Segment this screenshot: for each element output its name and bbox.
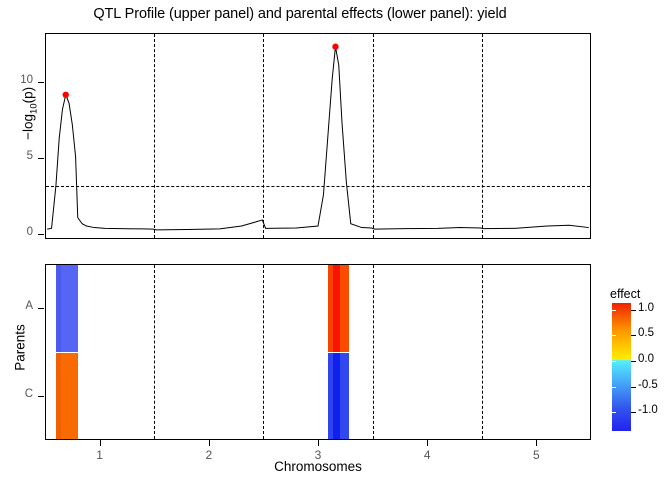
y-tick-label-upper-0: 0 (3, 226, 33, 238)
legend-tick-3 (631, 387, 636, 388)
page-title: QTL Profile (upper panel) and parental e… (0, 6, 600, 22)
upper-panel-qtl-profile (45, 33, 591, 239)
chromosome-separator-1 (154, 34, 155, 238)
peak-marker-chr1 (63, 92, 69, 98)
legend-tick-inner-4 (612, 412, 616, 413)
legend-tick-inner-2 (612, 361, 616, 362)
legend-title: effect (610, 287, 640, 301)
chromosome-separator-lower-4 (482, 265, 483, 439)
chromosome-separator-lower-2 (263, 265, 264, 439)
legend-tick-0 (631, 310, 636, 311)
legend-tick-2 (631, 361, 636, 362)
x-tick-5 (536, 440, 537, 446)
ylabel-prefix: −log (21, 114, 36, 140)
ylabel-suffix: (p) (21, 87, 36, 104)
legend-tick-inner-1 (612, 335, 616, 336)
peak-marker-chr3 (332, 44, 338, 50)
effect-bar-chr3-C-5 (340, 353, 349, 439)
upper-panel-plot-area (46, 34, 590, 238)
effect-bar-chr1-A-1 (61, 265, 78, 352)
qtl-plot-canvas: QTL Profile (upper panel) and parental e… (0, 0, 672, 480)
legend-tick-inner-0 (612, 310, 616, 311)
lower-panel-y-axis-title: Parents (13, 268, 28, 428)
x-tick-1 (100, 440, 101, 446)
x-tick-2 (209, 440, 210, 446)
legend-tick-1 (631, 335, 636, 336)
ylabel-subscript: 10 (28, 103, 39, 114)
legend-label-1: 0.5 (638, 327, 654, 339)
x-axis-title: Chromosomes (45, 459, 591, 474)
chromosome-separator-lower-3 (373, 265, 374, 439)
legend-tick-4 (631, 412, 636, 413)
effect-bar-chr1-C-3 (61, 353, 78, 439)
significance-threshold-line (46, 186, 590, 187)
peak-markers (63, 44, 339, 98)
effect-bar-chr3-A-2 (340, 265, 349, 352)
legend-label-3: -0.5 (638, 379, 658, 391)
qtl-profile-curve (46, 34, 590, 238)
chromosome-separator-3 (373, 34, 374, 238)
y-tick-upper-0 (38, 234, 44, 235)
legend-tick-inner-3 (612, 387, 616, 388)
legend-label-0: 1.0 (638, 302, 654, 314)
lower-panel-plot-area (46, 265, 590, 439)
x-tick-4 (427, 440, 428, 446)
legend-label-2: 0.0 (638, 353, 654, 365)
y-tick-lower-1 (38, 396, 44, 397)
legend-label-4: -1.0 (638, 404, 658, 416)
chromosome-separator-4 (482, 34, 483, 238)
chromosome-separator-lower-1 (154, 265, 155, 439)
lower-panel-parental-effects (45, 264, 591, 440)
y-tick-lower-0 (38, 308, 44, 309)
chromosome-separator-2 (263, 34, 264, 238)
upper-panel-y-axis-title: −log10(p) (21, 33, 40, 193)
x-tick-3 (318, 440, 319, 446)
